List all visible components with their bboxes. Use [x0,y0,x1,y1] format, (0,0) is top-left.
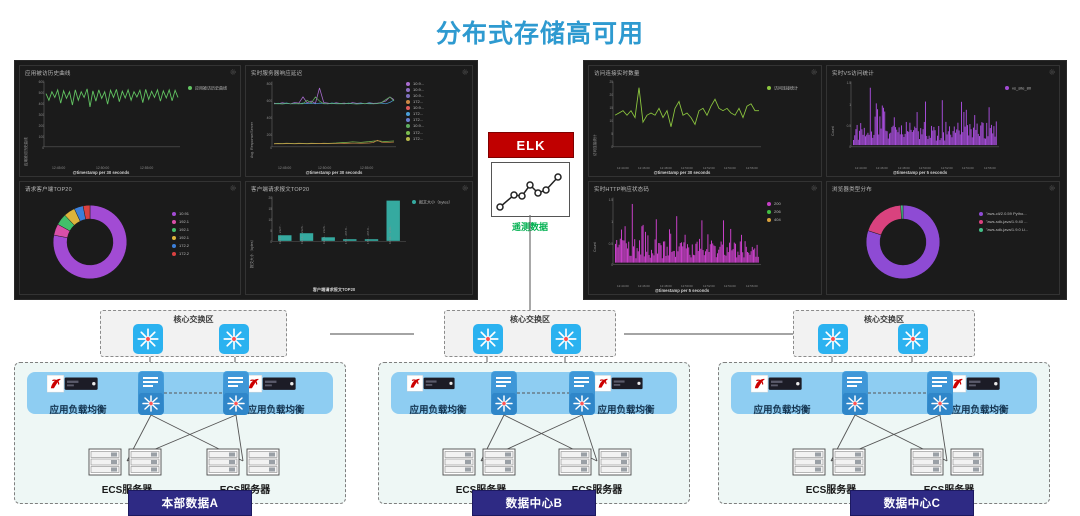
legend-item[interactable]: 报文大小（bytes） [412,198,453,205]
legend-label: 应用被访历史曲线 [195,85,227,90]
chart-legend[interactable]: 10.9...10.9...10.9...172...10.9...172...… [406,81,424,142]
gear-icon[interactable] [230,69,236,75]
datacenter-a: 应用负载均衡 应用负载均衡 [14,362,346,504]
legend-item[interactable]: 访问连接统计 [767,84,798,91]
legend-label: "aws-cli/2.0.59 Pytho... [986,211,1027,216]
chart-legend[interactable]: "aws-cli/2.0.59 Pytho..."aws-sdk-java/1.… [979,210,1028,234]
legend-swatch [172,220,176,224]
x-axis-label: @timestamp per 5 seconds [565,288,799,293]
x-tick-labels: 192.1... 2127...192.1... 2126...192.1...… [272,244,412,280]
panel-title: 访问连接实时数量 [594,69,640,77]
legend-label: 192.1 [179,219,189,224]
gear-icon[interactable] [811,185,817,191]
chart-legend[interactable]: 应用被访历史曲线 [188,84,227,91]
legend-item[interactable]: 172.2 [172,250,189,258]
switch-icon[interactable] [551,324,581,354]
legend-label: 200 [774,201,781,206]
chart-area: 10.91192.1192.1192.1172.2172.2 [20,194,240,294]
panel-client-payload-top20[interactable]: 客户端请求报文TOP20 报文大小（bytes） 20 15 10 5 0 19… [245,181,473,295]
legend-label: 192.1 [179,235,189,240]
y-tick-labels: 800 600 400 200 0 [256,80,272,160]
core-zone-title: 核心交换区 [101,314,286,325]
legend-label: 172... [413,99,423,104]
legend-label: 10.9... [413,123,424,128]
y-tick-labels: 600 500 400 300 200 100 0 [28,80,44,160]
panel-http-status-codes[interactable]: 实时HTTP响应状态码 Count 1.5 1 0.5 0 12:44:0012… [588,181,822,295]
legend-swatch [406,131,410,135]
panel-title: 实时HTTP响应状态码 [594,185,649,193]
legend-swatch [172,236,176,240]
legend-swatch [406,106,410,110]
ecs-group-right[interactable]: ECS服务器 [195,447,295,484]
panel-title: 浏览器类型分布 [832,185,872,193]
histogram-plot [589,194,823,282]
chart-area: 访问连接统计 25 20 15 10 5 0 12:44:0012:46:001… [589,78,821,176]
legend-label: 404 [774,217,781,222]
legend-swatch [406,88,410,92]
gear-icon[interactable] [462,185,468,191]
legend-item[interactable]: vs_site_80 [1005,84,1031,91]
switch-icon[interactable] [133,324,163,354]
legend-label: 访问连接统计 [774,85,798,90]
legend-swatch [767,210,771,214]
legend-item[interactable]: 200 [767,200,781,208]
gear-icon[interactable] [811,69,817,75]
panel-connection-count[interactable]: 访问连接实时数量 访问连接统计 25 20 15 10 5 0 12:44:00… [588,65,822,177]
legend-label: vs_site_80 [1012,85,1031,90]
panel-vs-access-stats[interactable]: 实时VS访问统计 Count 1.5 1 0.5 0 12:44:0012:46… [826,65,1060,177]
legend-swatch [1005,86,1009,90]
panel-client-request-top20[interactable]: 请求客户端TOP20 10.91192.1192.1192.1172.2172.… [19,181,241,295]
legend-label: 10.91 [179,211,189,216]
legend-item[interactable]: 192.1 [172,218,189,226]
legend-label: 10.9... [413,93,424,98]
legend-swatch [406,100,410,104]
switch-icon[interactable] [818,324,848,354]
legend-swatch [406,82,410,86]
legend-item[interactable]: 192.1 [172,226,189,234]
legend-swatch [172,244,176,248]
chart-area: "aws-cli/2.0.59 Pytho..."aws-sdk-java/1.… [827,194,1059,294]
x-tick: 192.1... 2126... [322,224,326,244]
legend-item[interactable]: 172.2 [172,242,189,250]
legend-item[interactable]: 应用被访历史曲线 [188,84,227,91]
core-switch-zone-b: 核心交换区 [444,310,616,357]
datacenter-tag-b[interactable]: 数据中心B [472,490,596,516]
legend-item[interactable]: 404 [767,216,781,224]
panel-browser-type-distribution[interactable]: 浏览器类型分布 "aws-cli/2.0.59 Pytho..."aws-sdk… [826,181,1060,295]
panel-title: 客户端请求报文TOP20 [251,185,309,193]
legend-label: 192.1 [179,227,189,232]
chart-area: 应用被访历史曲线 600 500 400 300 200 100 0 12:45… [20,78,240,176]
legend-swatch [172,212,176,216]
switch-icon[interactable] [898,324,928,354]
legend-label: 报文大小（bytes） [419,199,453,204]
legend-label: 172.2 [179,251,189,256]
chart-area: 报文大小（bytes） 20 15 10 5 0 192.1... 2127..… [246,194,472,294]
legend-label: 206 [774,209,781,214]
x-tick: 10.91... 3.10... [388,225,392,244]
chart-area: Count 1.5 1 0.5 0 12:44:0012:46:0012:48:… [589,194,821,294]
legend-item[interactable]: 192.1 [172,234,189,242]
legend-swatch [406,94,410,98]
donut-slice[interactable] [868,205,902,235]
gear-icon[interactable] [462,69,468,75]
switch-icon[interactable] [219,324,249,354]
legend-item[interactable]: "aws-sdk-java/1.9.0 Li... [979,226,1028,234]
dc-internal-wires [719,363,1049,503]
chart-legend[interactable]: vs_site_80 [1005,84,1031,91]
x-axis-label: 客户端请求报文TOP20 [220,287,448,293]
donut-chart [857,196,949,288]
elk-chart-icon [491,162,570,217]
legend-label: 172... [413,111,423,116]
legend-label: 172... [413,130,423,135]
legend-label: 10.9... [413,87,424,92]
multi-line-plot [246,78,474,164]
legend-swatch [979,212,983,216]
datacenter-c: 应用负载均衡 应用负载均衡 [718,362,1050,504]
telemetry-caption: 遥测数据 [488,220,572,233]
x-axis-label: @timestamp per 30 seconds [565,170,799,175]
dc-internal-wires [15,363,345,503]
gear-icon[interactable] [1049,185,1055,191]
x-axis-label: @timestamp per 5 seconds [803,170,1037,175]
legend-swatch [406,112,410,116]
core-switch-zone-a: 核心交换区 [100,310,287,357]
legend-label: 10.9... [413,105,424,110]
chart-legend[interactable]: 访问连接统计 [767,84,798,91]
legend-item[interactable]: "aws-sdk-java/1.9.40 ... [979,218,1028,226]
donut-chart [44,196,136,288]
core-switch-zone-c: 核心交换区 [793,310,975,357]
panel-title: 请求客户端TOP20 [25,185,72,193]
core-zone-title: 核心交换区 [445,314,615,325]
switch-icon[interactable] [473,324,503,354]
ecs-group-right[interactable]: ECS服务器 [899,447,999,484]
legend-label: 172.2 [179,243,189,248]
legend-swatch [172,228,176,232]
legend-swatch [406,124,410,128]
ecs-group-left[interactable]: ECS服务器 [781,447,881,484]
datacenter-b: 应用负载均衡 应用负载均衡 [378,362,690,504]
dashboard-left: 应用被访历史曲线 应用被访历史曲线 600 500 400 300 200 10… [14,60,478,300]
legend-swatch [767,202,771,206]
legend-swatch [406,137,410,141]
ecs-group-left[interactable]: ECS服务器 [77,447,177,484]
panel-title: 实时VS访问统计 [832,69,874,77]
legend-label: 172... [413,136,423,141]
chart-area: Avg. Response/Server 800 600 400 200 0 1… [246,78,472,176]
legend-swatch [172,252,176,256]
chart-legend[interactable]: 10.91192.1192.1192.1172.2172.2 [172,210,189,258]
panel-app-access-history[interactable]: 应用被访历史曲线 应用被访历史曲线 600 500 400 300 200 10… [19,65,241,177]
panel-server-response-latency[interactable]: 实时服务器响应延迟 Avg. Response/Server 800 600 4… [245,65,473,177]
legend-label: 10.9... [413,81,424,86]
legend-swatch [979,220,983,224]
datacenter-tag-a[interactable]: 本部数据A [128,490,252,516]
elk-block: ELK 遥测数据 [488,132,572,262]
x-tick: 192.1... 2127... [278,224,282,244]
page-title: 分布式存储高可用 [0,14,1080,50]
legend-swatch [979,228,983,232]
legend-label: "aws-sdk-java/1.9.40 ... [986,219,1027,224]
legend-item[interactable]: 172... [406,136,424,142]
legend-swatch [412,200,416,204]
datacenter-tag-c[interactable]: 数据中心C [850,490,974,516]
x-tick: 172... 267.0... [366,226,370,244]
ecs-group-right[interactable]: ECS服务器 [547,447,647,484]
chart-legend[interactable]: 200206404 [767,200,781,224]
legend-item[interactable]: "aws-cli/2.0.59 Pytho... [979,210,1028,218]
chart-area: Count 1.5 1 0.5 0 12:44:0012:46:0012:48:… [827,78,1059,176]
gear-icon[interactable] [1049,69,1055,75]
gear-icon[interactable] [230,185,236,191]
panel-title: 应用被访历史曲线 [25,69,71,77]
legend-item[interactable]: 10.91 [172,210,189,218]
legend-swatch [767,218,771,222]
legend-swatch [406,118,410,122]
dashboard-right: 访问连接实时数量 访问连接统计 25 20 15 10 5 0 12:44:00… [583,60,1067,300]
x-tick: 192.1... 2126... [300,224,304,244]
chart-legend[interactable]: 报文大小（bytes） [412,198,453,205]
legend-label: "aws-sdk-java/1.9.0 Li... [986,227,1028,232]
elk-label[interactable]: ELK [488,132,574,158]
legend-label: 172... [413,117,423,122]
x-axis-label: @timestamp per 30 seconds [220,170,448,175]
legend-swatch [767,86,771,90]
x-axis-label: @timestamp per 30 seconds [0,170,212,175]
legend-swatch [188,86,192,90]
panel-title: 实时服务器响应延迟 [251,69,302,77]
ecs-group-left[interactable]: ECS服务器 [431,447,531,484]
x-tick: 172... 267.8... [344,226,348,244]
legend-item[interactable]: 206 [767,208,781,216]
